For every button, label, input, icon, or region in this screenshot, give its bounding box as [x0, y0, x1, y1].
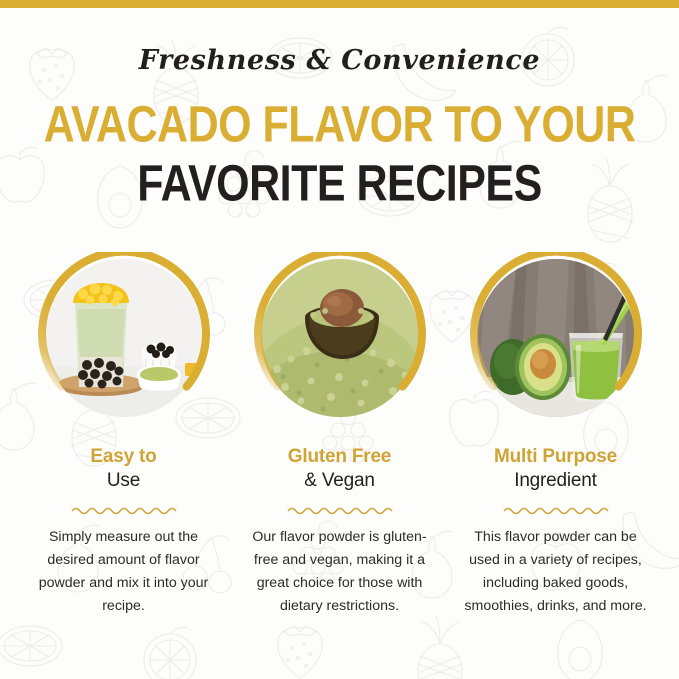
feature-heading-dark-3: Ingredient [514, 468, 597, 494]
header: Freshness & Convenience AVACADO FLAVOR T… [0, 8, 679, 203]
feature-photo-bubble-tea [45, 259, 203, 417]
feature-body-1: Simply measure out the desired amount of… [29, 526, 219, 618]
feature-card-easy-to-use: Easy to Use Simply measure out the desir… [22, 252, 225, 618]
feature-heading-gold-1: Easy to [90, 446, 156, 468]
wavy-line-divider-1 [70, 505, 178, 516]
infographic-page: Freshness & Convenience AVACADO FLAVOR T… [0, 0, 679, 679]
feature-heading-dark-1: Use [107, 468, 140, 494]
feature-photo-avocado-powder [261, 259, 419, 417]
feature-columns: Easy to Use Simply measure out the desir… [0, 252, 679, 618]
feature-body-2: Our flavor powder is gluten-free and veg… [245, 526, 435, 618]
page-title-line-2: FAVORITE RECIPES [0, 158, 679, 211]
feature-body-3: This flavor powder can be used in a vari… [461, 526, 651, 618]
feature-photo-avocado-smoothie [477, 259, 635, 417]
feature-image-wrap-3 [470, 252, 642, 424]
eyebrow-script-title: Freshness & Convenience [0, 47, 679, 74]
feature-card-gluten-free-vegan: Gluten Free & Vegan Our flavor powder is… [238, 252, 441, 618]
wavy-line-divider-2 [286, 505, 394, 516]
top-accent-bar [0, 0, 679, 8]
feature-image-wrap-1 [38, 252, 210, 424]
feature-heading-gold-3: Multi Purpose [494, 446, 617, 468]
feature-image-wrap-2 [254, 252, 426, 424]
wavy-line-divider-3 [502, 505, 610, 516]
feature-card-multi-purpose-ingredient: Multi Purpose Ingredient This flavor pow… [454, 252, 657, 618]
feature-heading-gold-2: Gluten Free [288, 446, 391, 468]
page-title-line-1: AVACADO FLAVOR TO YOUR [0, 99, 679, 152]
feature-heading-dark-2: & Vegan [304, 468, 374, 494]
